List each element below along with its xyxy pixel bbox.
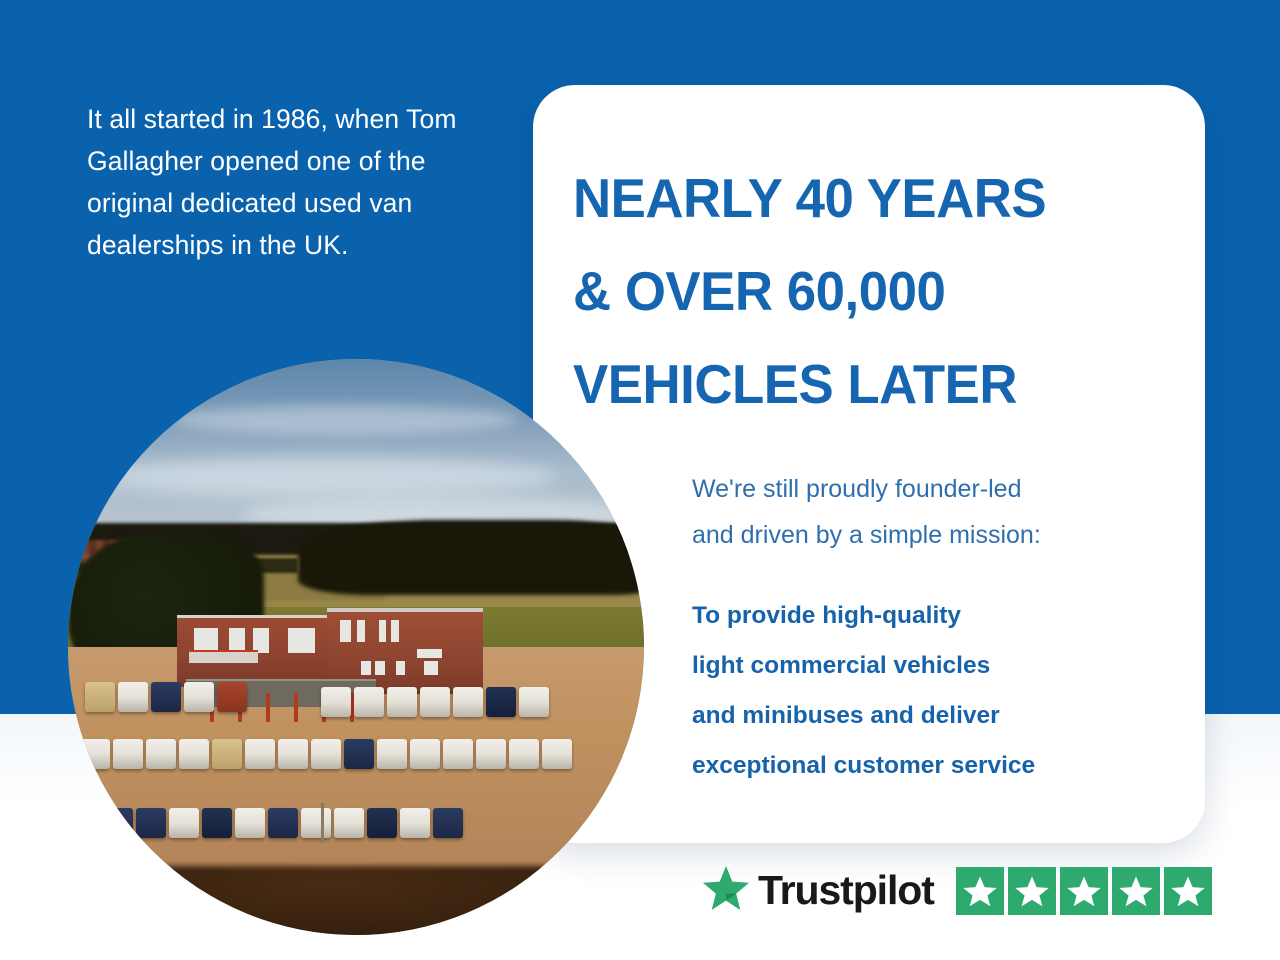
intro-paragraph: It all started in 1986, when Tom Gallagh… (87, 98, 487, 266)
trustpilot-logo[interactable]: Trustpilot (703, 866, 934, 915)
mission-statement: To provide high-quality light commercial… (692, 591, 1162, 791)
page-title: NEARLY 40 YEARS & OVER 60,000 VEHICLES L… (573, 152, 1168, 431)
subheading-text: We're still proudly founder-led and driv… (692, 466, 1172, 558)
star-icon (1112, 867, 1160, 915)
star-icon (1164, 867, 1212, 915)
trustpilot-star-icon (703, 866, 749, 915)
star-icon (1060, 867, 1108, 915)
dealership-photo (68, 359, 644, 935)
infographic-stage: It all started in 1986, when Tom Gallagh… (0, 0, 1280, 960)
star-icon (1008, 867, 1056, 915)
trustpilot-rating[interactable]: Trustpilot (703, 866, 1212, 915)
trustpilot-wordmark: Trustpilot (758, 867, 934, 914)
trustpilot-star-rating[interactable] (956, 867, 1212, 915)
star-icon (956, 867, 1004, 915)
